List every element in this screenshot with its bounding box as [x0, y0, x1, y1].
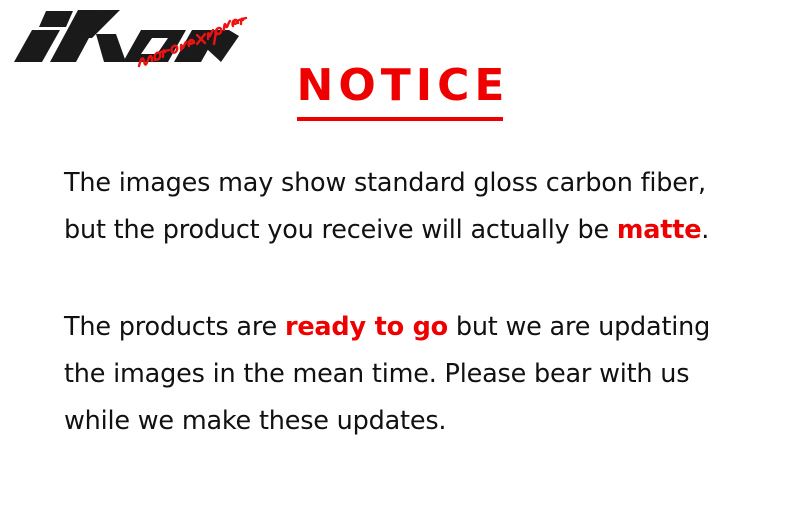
title-underline-rule [297, 117, 503, 121]
text-run: . [701, 215, 709, 245]
paragraph-line: the images in the mean time. Please bear… [64, 351, 764, 398]
notice-heading-block: NOTICE [0, 60, 800, 121]
text-run: while we make these updates. [64, 406, 446, 436]
paragraph-gloss-vs-matte: The images may show standard gloss carbo… [64, 160, 764, 254]
ikon-wordmark-icon [14, 10, 239, 62]
paragraph-line: The images may show standard gloss carbo… [64, 160, 764, 207]
text-run: The products are [64, 312, 285, 342]
highlight-ready-to-go: ready to go [285, 312, 448, 342]
paragraph-spacer [64, 254, 764, 304]
highlight-matte: matte [617, 215, 701, 245]
notice-banner: NOTICE The images may show standard glos… [0, 0, 800, 510]
paragraph-line: but the product you receive will actuall… [64, 207, 764, 254]
text-run: but the product you receive will actuall… [64, 215, 617, 245]
text-run: The images may show standard gloss carbo… [64, 168, 706, 198]
page-title: NOTICE [291, 60, 510, 114]
notice-body: The images may show standard gloss carbo… [64, 160, 764, 445]
paragraph-line: The products are ready to go but we are … [64, 304, 764, 351]
text-run: the images in the mean time. Please bear… [64, 359, 689, 389]
paragraph-ready-to-go: The products are ready to go but we are … [64, 304, 764, 445]
text-run: but we are updating [448, 312, 710, 342]
paragraph-line: while we make these updates. [64, 398, 764, 445]
